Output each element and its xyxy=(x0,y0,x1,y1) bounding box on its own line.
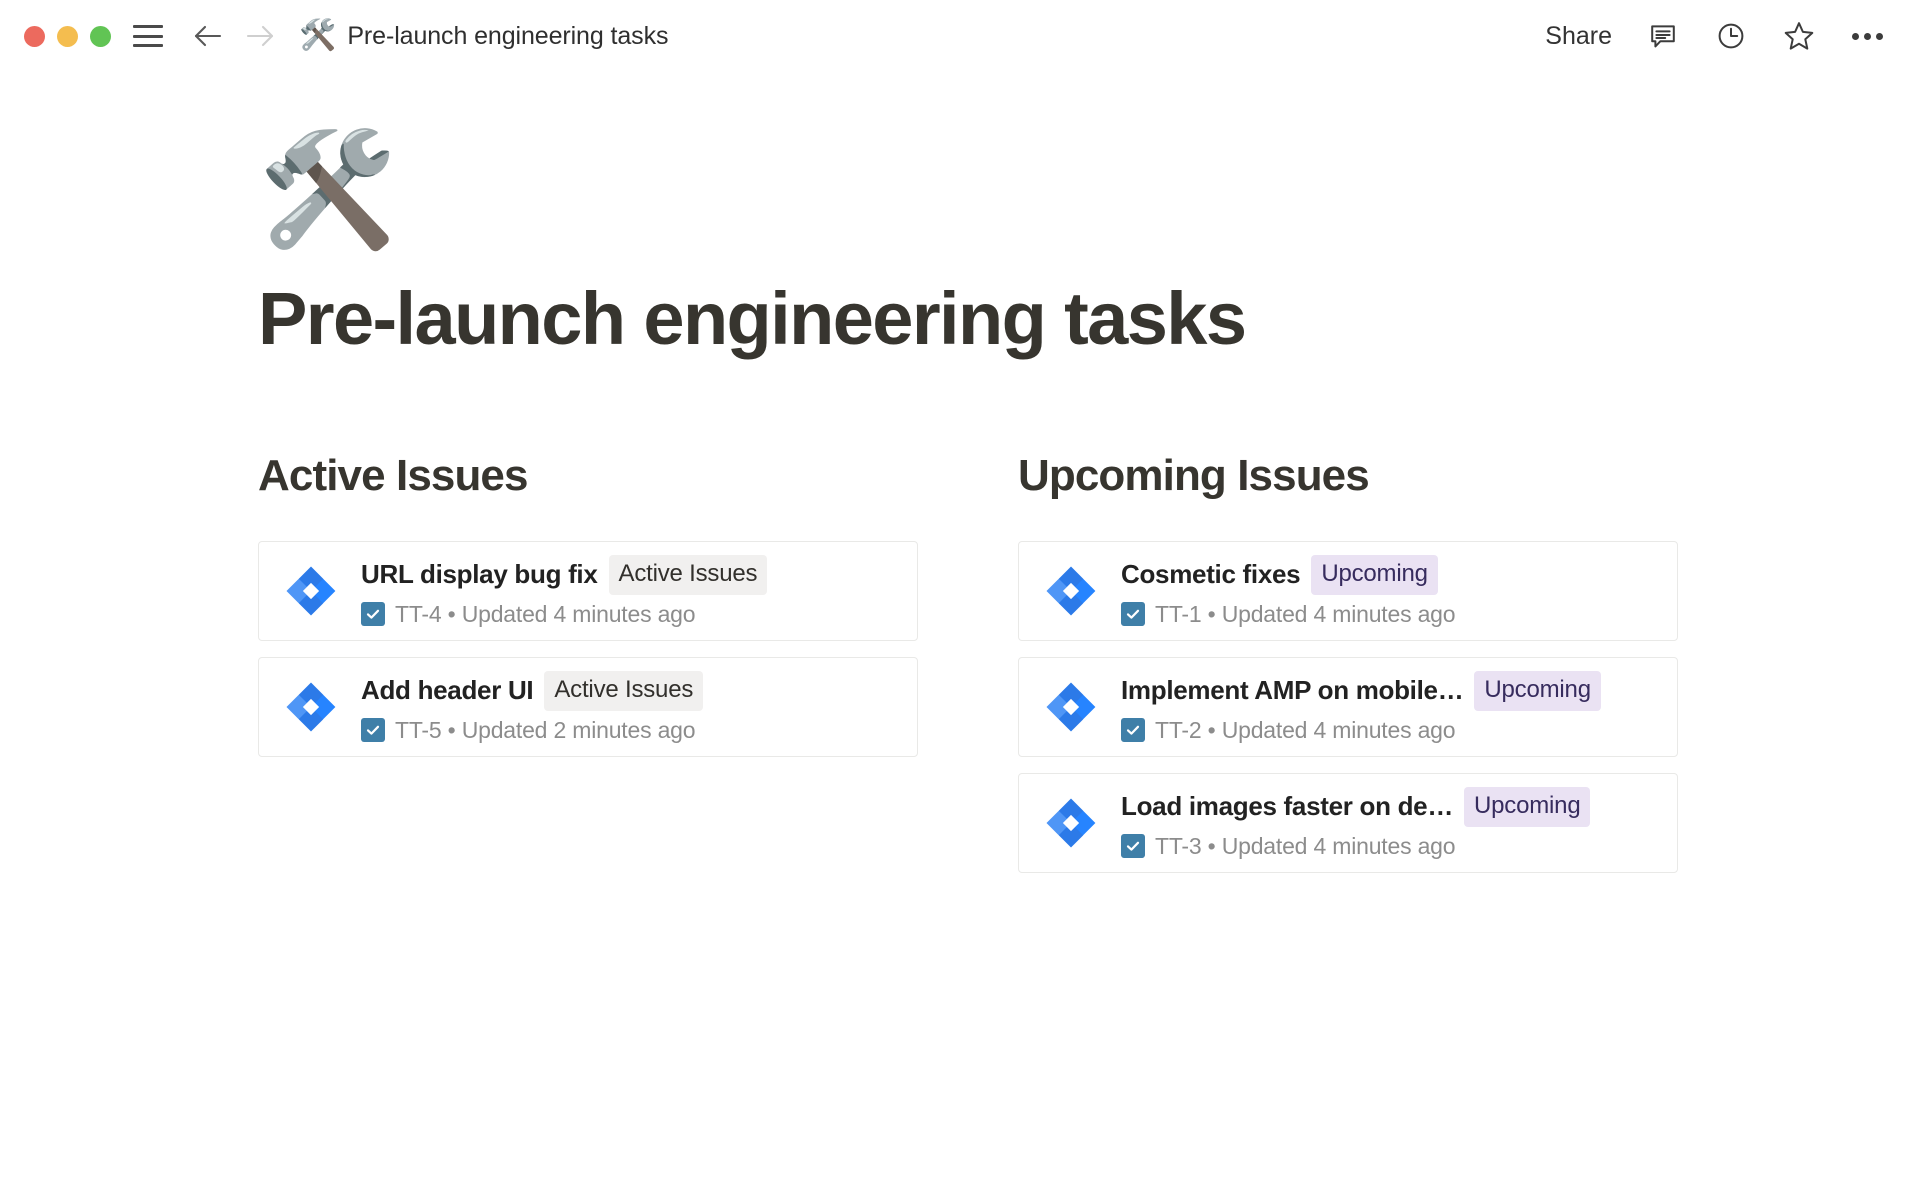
checked-checkbox-icon[interactable] xyxy=(361,718,385,742)
checked-checkbox-icon[interactable] xyxy=(1121,834,1145,858)
list-item-meta-row: TT-5 • Updated 2 minutes ago xyxy=(361,717,895,744)
list-item[interactable]: Cosmetic fixes Upcoming TT-1 • Updated 4… xyxy=(1018,541,1678,641)
page-title[interactable]: Pre-launch engineering tasks xyxy=(258,282,1920,356)
titlebar-actions: Share xyxy=(1545,19,1884,53)
list-item-body: Load images faster on de… Upcoming TT-3 … xyxy=(1121,787,1655,860)
list-item-body: Add header UI Active Issues TT-5 • Updat… xyxy=(361,671,895,744)
dot xyxy=(1864,33,1871,40)
status-badge: Active Issues xyxy=(544,671,703,711)
list-item-title-row: URL display bug fix Active Issues xyxy=(361,555,895,595)
list-item-meta-row: TT-1 • Updated 4 minutes ago xyxy=(1121,601,1655,628)
breadcrumb-emoji-icon: 🛠️ xyxy=(299,21,336,51)
status-badge: Upcoming xyxy=(1464,787,1590,827)
page-content: 🛠️ Pre-launch engineering tasks Active I… xyxy=(0,72,1920,889)
share-button[interactable]: Share xyxy=(1545,22,1612,51)
breadcrumb[interactable]: 🛠️ Pre-launch engineering tasks xyxy=(299,21,668,51)
jira-icon xyxy=(1045,565,1097,617)
list-item-title: Implement AMP on mobile… xyxy=(1121,675,1463,706)
list-item-title-row: Add header UI Active Issues xyxy=(361,671,895,711)
checked-checkbox-icon[interactable] xyxy=(361,602,385,626)
column-heading: Active Issues xyxy=(258,452,918,500)
list-item[interactable]: Load images faster on de… Upcoming TT-3 … xyxy=(1018,773,1678,873)
jira-icon xyxy=(285,681,337,733)
column-container: Active Issues URL display bug fix xyxy=(258,452,1920,889)
hamburger-menu-icon[interactable] xyxy=(133,25,163,47)
checked-checkbox-icon[interactable] xyxy=(1121,602,1145,626)
jira-icon xyxy=(1045,681,1097,733)
list-item-body: URL display bug fix Active Issues TT-4 •… xyxy=(361,555,895,628)
more-options-icon[interactable] xyxy=(1850,19,1884,53)
list-item-title: Add header UI xyxy=(361,675,533,706)
checked-checkbox-icon[interactable] xyxy=(1121,718,1145,742)
status-badge: Upcoming xyxy=(1474,671,1600,711)
column-heading: Upcoming Issues xyxy=(1018,452,1678,500)
dot xyxy=(1852,33,1859,40)
list-item-meta: TT-3 • Updated 4 minutes ago xyxy=(1155,833,1455,860)
list-item-meta: TT-1 • Updated 4 minutes ago xyxy=(1155,601,1455,628)
navigation-arrows xyxy=(191,19,277,53)
status-badge: Active Issues xyxy=(609,555,768,595)
list-item-title: Load images faster on de… xyxy=(1121,791,1453,822)
hamburger-line xyxy=(133,35,163,38)
list-item-body: Cosmetic fixes Upcoming TT-1 • Updated 4… xyxy=(1121,555,1655,628)
jira-icon xyxy=(1045,797,1097,849)
hamburger-line xyxy=(133,44,163,47)
arrow-left-icon[interactable] xyxy=(191,19,225,53)
status-badge: Upcoming xyxy=(1311,555,1437,595)
list-item-meta-row: TT-2 • Updated 4 minutes ago xyxy=(1121,717,1655,744)
list-item-title-row: Implement AMP on mobile… Upcoming xyxy=(1121,671,1655,711)
list-item-body: Implement AMP on mobile… Upcoming TT-2 •… xyxy=(1121,671,1655,744)
arrow-right-icon[interactable] xyxy=(243,19,277,53)
clock-history-icon[interactable] xyxy=(1714,19,1748,53)
column-upcoming-issues: Upcoming Issues Cosmetic fixes Upcom xyxy=(1018,452,1678,889)
window-titlebar: 🛠️ Pre-launch engineering tasks Share xyxy=(0,0,1920,72)
close-window-button[interactable] xyxy=(24,26,45,47)
list-item-title-row: Load images faster on de… Upcoming xyxy=(1121,787,1655,827)
list-item-title-row: Cosmetic fixes Upcoming xyxy=(1121,555,1655,595)
list-item-title: URL display bug fix xyxy=(361,559,598,590)
list-item-meta: TT-5 • Updated 2 minutes ago xyxy=(395,717,695,744)
dot xyxy=(1876,33,1883,40)
list-item-meta-row: TT-3 • Updated 4 minutes ago xyxy=(1121,833,1655,860)
star-icon[interactable] xyxy=(1782,19,1816,53)
list-item[interactable]: Implement AMP on mobile… Upcoming TT-2 •… xyxy=(1018,657,1678,757)
page-emoji-icon[interactable]: 🛠️ xyxy=(258,134,1920,246)
jira-icon xyxy=(285,565,337,617)
window-controls xyxy=(24,26,111,47)
list-item-meta-row: TT-4 • Updated 4 minutes ago xyxy=(361,601,895,628)
list-item[interactable]: URL display bug fix Active Issues TT-4 •… xyxy=(258,541,918,641)
comment-icon[interactable] xyxy=(1646,19,1680,53)
list-item-meta: TT-4 • Updated 4 minutes ago xyxy=(395,601,695,628)
hamburger-line xyxy=(133,25,163,28)
breadcrumb-title[interactable]: Pre-launch engineering tasks xyxy=(347,22,668,51)
list-item-title: Cosmetic fixes xyxy=(1121,559,1300,590)
minimize-window-button[interactable] xyxy=(57,26,78,47)
column-active-issues: Active Issues URL display bug fix xyxy=(258,452,918,889)
list-item-meta: TT-2 • Updated 4 minutes ago xyxy=(1155,717,1455,744)
maximize-window-button[interactable] xyxy=(90,26,111,47)
list-item[interactable]: Add header UI Active Issues TT-5 • Updat… xyxy=(258,657,918,757)
